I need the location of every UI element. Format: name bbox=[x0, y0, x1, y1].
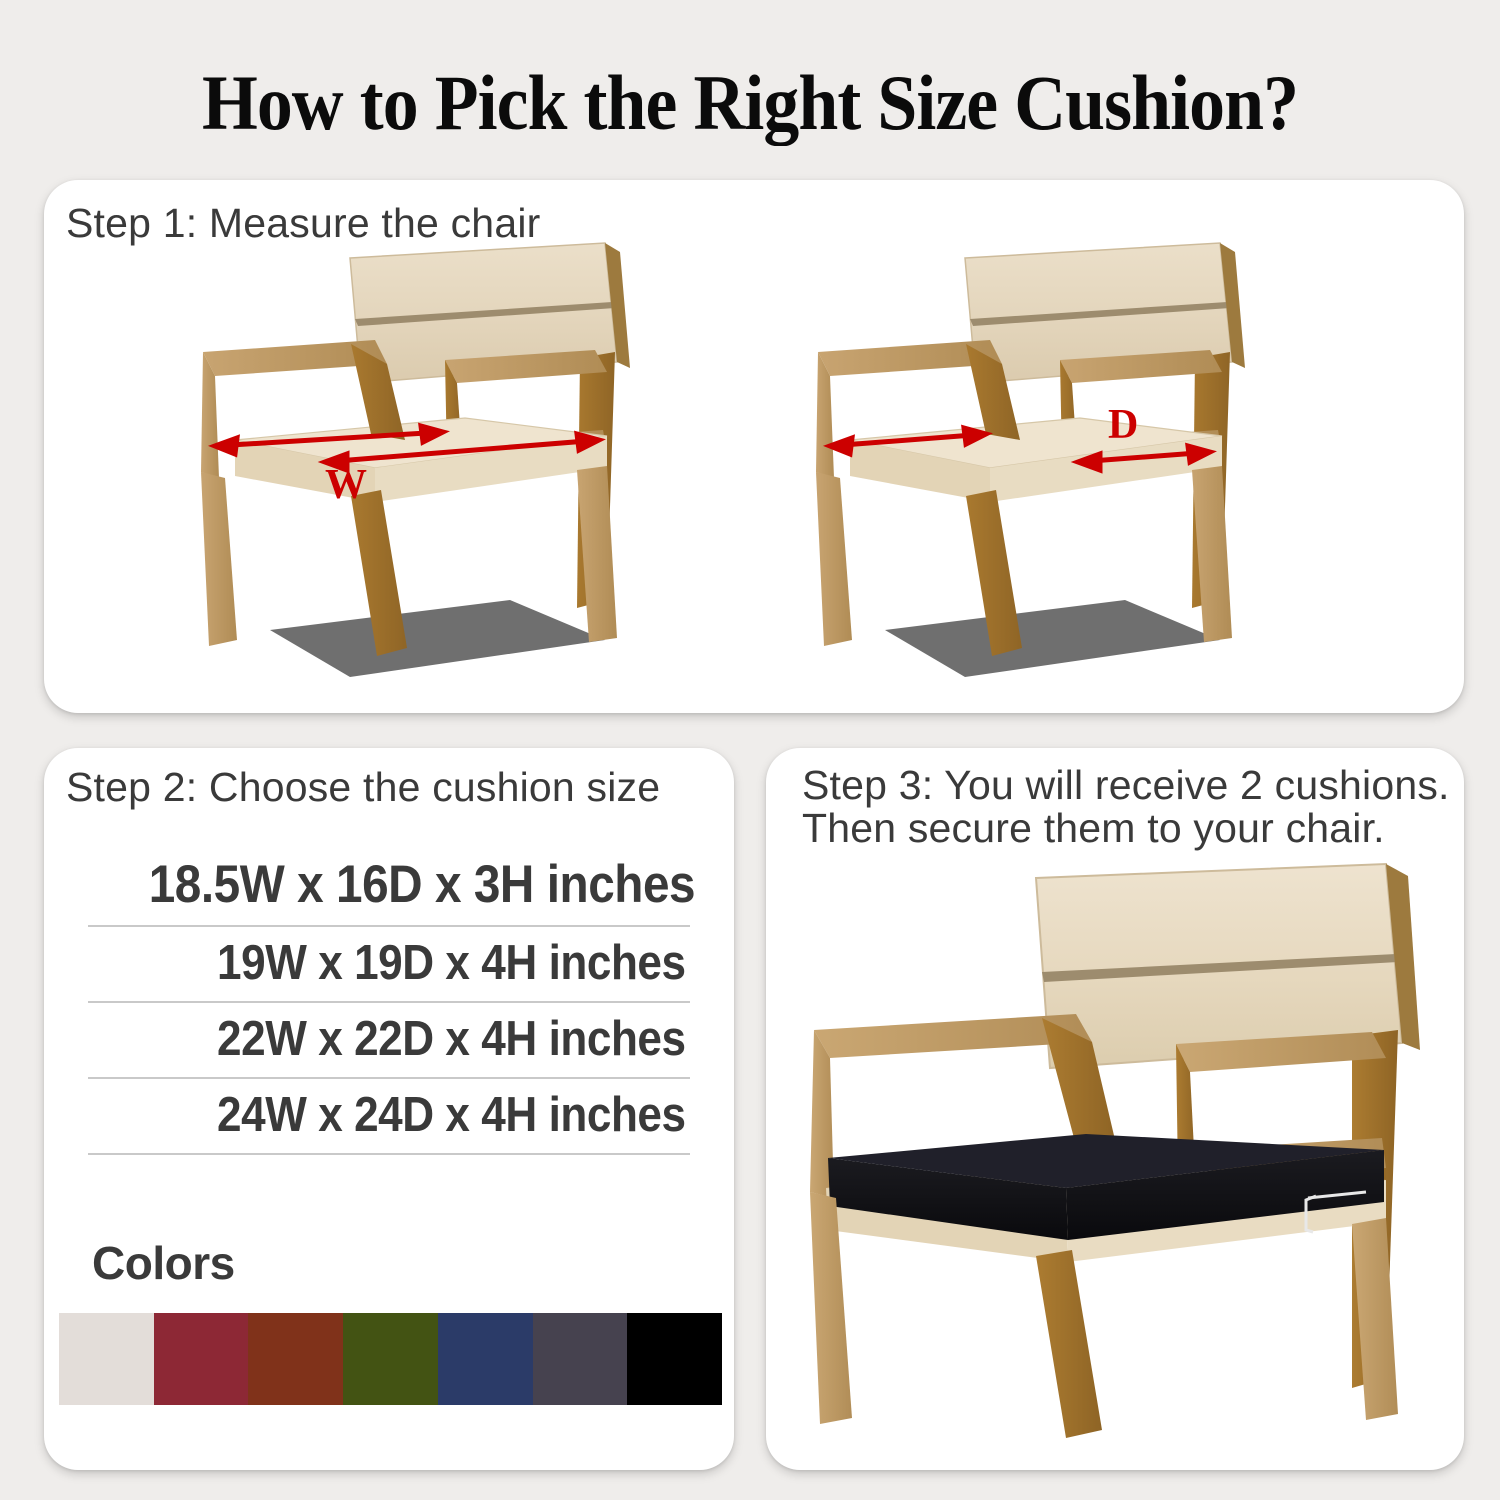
chair-width-svg: W bbox=[175, 240, 645, 690]
swatch-olive[interactable] bbox=[343, 1313, 438, 1405]
size-option-label: 18.5W x 16D x 3H inches bbox=[149, 854, 695, 915]
chair-with-cushion-diagram bbox=[786, 858, 1446, 1458]
leg-front-left bbox=[201, 472, 237, 646]
swatch-beige[interactable] bbox=[59, 1313, 154, 1405]
colors-label: Colors bbox=[92, 1236, 235, 1290]
swatch-slate[interactable] bbox=[533, 1313, 628, 1405]
size-option-row[interactable]: 18.5W x 16D x 3H inches bbox=[88, 846, 690, 927]
chair-depth-diagram: D bbox=[790, 240, 1260, 690]
leg-front-left bbox=[816, 472, 852, 646]
step-3-heading: Step 3: You will receive 2 cushions. The… bbox=[802, 764, 1450, 851]
color-swatch-bar bbox=[59, 1313, 722, 1405]
size-option-row[interactable]: 22W x 22D x 4H inches bbox=[88, 1003, 690, 1079]
swatch-navy[interactable] bbox=[438, 1313, 533, 1405]
cushion-size-list: 18.5W x 16D x 3H inches 19W x 19D x 4H i… bbox=[88, 846, 690, 1155]
page-title: How to Pick the Right Size Cushion? bbox=[60, 58, 1440, 148]
leg-back-right bbox=[1192, 466, 1232, 642]
swatch-black[interactable] bbox=[627, 1313, 722, 1405]
floor-shadow bbox=[270, 600, 605, 677]
infographic-page: How to Pick the Right Size Cushion? Step… bbox=[0, 0, 1500, 1500]
step-3-heading-line-2: Then secure them to your chair. bbox=[802, 807, 1450, 850]
swatch-rust[interactable] bbox=[248, 1313, 343, 1405]
size-option-label: 24W x 24D x 4H inches bbox=[217, 1087, 686, 1143]
depth-label: D bbox=[1108, 402, 1138, 448]
leg-back-right bbox=[577, 466, 617, 642]
swatch-crimson[interactable] bbox=[154, 1313, 249, 1405]
floor-shadow bbox=[885, 600, 1220, 677]
size-option-label: 22W x 22D x 4H inches bbox=[217, 1011, 686, 1067]
size-option-row[interactable]: 24W x 24D x 4H inches bbox=[88, 1079, 690, 1155]
size-option-label: 19W x 19D x 4H inches bbox=[217, 935, 686, 991]
chair-width-diagram: W bbox=[175, 240, 645, 690]
width-label: W bbox=[325, 462, 367, 508]
step-3-heading-line-1: Step 3: You will receive 2 cushions. bbox=[802, 764, 1450, 807]
panel-step-3: Step 3: You will receive 2 cushions. The… bbox=[766, 748, 1464, 1470]
size-option-row[interactable]: 19W x 19D x 4H inches bbox=[88, 927, 690, 1003]
step-2-heading: Step 2: Choose the cushion size bbox=[66, 764, 660, 811]
leg-back-right bbox=[1352, 1218, 1398, 1420]
chair-depth-svg: D bbox=[790, 240, 1260, 690]
chair-cushion-svg bbox=[786, 858, 1446, 1458]
leg-center bbox=[1036, 1250, 1102, 1438]
